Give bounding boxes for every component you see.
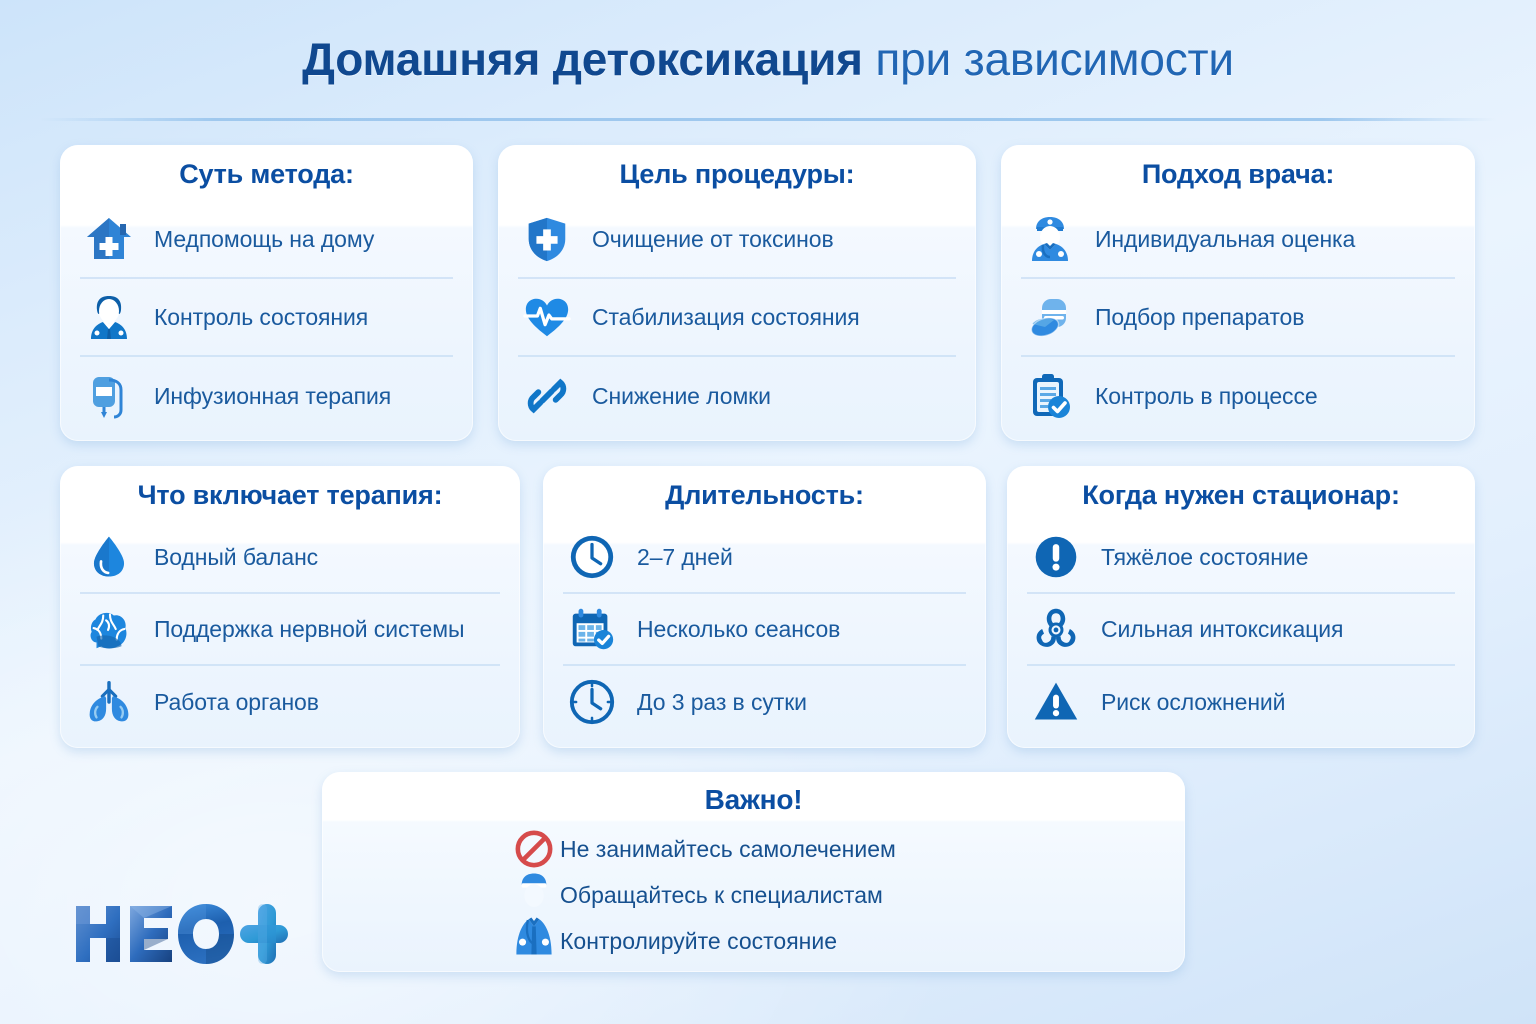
card-essence-of-method: Суть метода: Медпомощь на дому [60,145,473,441]
list-item: Не занимайтесь самолечением [322,826,1185,872]
warning-triangle-icon [1027,673,1085,731]
list-item: Риск осложнений [1027,666,1455,738]
card-body: Водный баланс [60,522,520,738]
card-body: Очищение от токсинов Стабилизация состоя… [498,201,976,435]
list-item: Работа органов [80,666,500,738]
list-item: Стабилизация состояния [518,279,956,357]
list-item-label: Инфузионная терапия [154,383,391,409]
list-item-label: Очищение от токсинов [592,226,834,252]
list-item: Водный баланс [80,522,500,594]
page-title-strong: Домашняя детоксикация [302,33,863,85]
list-item-label: 2–7 дней [637,544,733,570]
list-item: Тяжёлое состояние [1027,522,1455,594]
list-item: Несколько сеансов [563,594,966,666]
list-item-label: Тяжёлое состояние [1101,544,1308,570]
list-item-label: Водный баланс [154,544,318,570]
doctor-cap-icon [1021,210,1079,268]
iv-drip-icon [80,367,138,425]
card-doctor-approach: Подход врача: Индивиду [1001,145,1475,441]
clock-outline-icon [563,673,621,731]
list-item-label: Медпомощь на дому [154,226,374,252]
list-item: 2–7 дней [563,522,966,594]
card-heading: Что включает терапия: [60,466,520,522]
doctor-person-icon [80,288,138,346]
card-body: Не занимайтесь самолечением Обращайтесь … [322,822,1185,968]
list-item: Обращайтесь к специалистам [322,872,1185,918]
shield-cross-icon [518,210,576,268]
list-item-label: Поддержка нервной системы [154,616,464,642]
list-item-label: Не занимайтесь самолечением [560,836,896,863]
water-drop-icon [80,528,138,586]
doctor-figure-icon [508,870,560,962]
pills-icon [1021,288,1079,346]
list-item: Контроль в процессе [1021,357,1455,435]
card-procedure-goal: Цель процедуры: Очищение от токсинов [498,145,976,441]
card-heading: Подход врача: [1001,145,1475,201]
page-title-light: при зависимости [875,33,1233,85]
card-body: Тяжёлое состояние Сильная интоксикация [1007,522,1475,738]
card-important: Важно! [322,772,1185,972]
list-item-label: Снижение ломки [592,383,771,409]
list-item-label: Контролируйте состояние [560,928,837,955]
broken-chain-icon [518,367,576,425]
list-item: Очищение от токсинов [518,201,956,279]
list-item-label: Риск осложнений [1101,689,1285,715]
card-heading: Суть метода: [60,145,473,201]
title-divider [40,118,1496,121]
page-title: Домашняя детоксикация при зависимости [0,34,1536,85]
list-item: Сильная интоксикация [1027,594,1455,666]
calendar-check-icon [563,600,621,658]
list-item-label: Несколько сеансов [637,616,840,642]
prohibition-icon [508,826,560,872]
clock-filled-icon [563,528,621,586]
brain-icon [80,600,138,658]
list-item-label: Работа органов [154,689,319,715]
house-medical-icon [80,210,138,268]
neo-plus-logo [72,898,288,970]
heart-pulse-icon [518,288,576,346]
list-item-label: Стабилизация состояния [592,304,860,330]
biohazard-icon [1027,600,1085,658]
card-duration: Длительность: 2–7 дней [543,466,986,748]
list-item-label: До 3 раз в сутки [637,689,807,715]
clipboard-check-icon [1021,367,1079,425]
card-body: Индивидуальная оценка Подбор препаратов [1001,201,1475,435]
list-item: Подбор препаратов [1021,279,1455,357]
card-therapy-includes: Что включает терапия: Водный баланс [60,466,520,748]
list-item-label: Обращайтесь к специалистам [560,882,883,909]
list-item-label: Контроль состояния [154,304,368,330]
list-item: Снижение ломки [518,357,956,435]
lungs-icon [80,673,138,731]
list-item: Контролируйте состояние [322,918,1185,964]
list-item: Контроль состояния [80,279,453,357]
list-item: Индивидуальная оценка [1021,201,1455,279]
card-body: 2–7 дней [543,522,986,738]
card-heading: Когда нужен стационар: [1007,466,1475,522]
list-item: Поддержка нервной системы [80,594,500,666]
card-when-hospital-needed: Когда нужен стационар: Тяжёлое состояние [1007,466,1475,748]
card-body: Медпомощь на дому Контроль состояния [60,201,473,435]
card-heading: Важно! [322,772,1185,822]
list-item-label: Контроль в процессе [1095,383,1318,409]
exclamation-circle-icon [1027,528,1085,586]
list-item-label: Индивидуальная оценка [1095,226,1355,252]
list-item-label: Подбор препаратов [1095,304,1304,330]
list-item-label: Сильная интоксикация [1101,616,1343,642]
card-heading: Длительность: [543,466,986,522]
list-item: Инфузионная терапия [80,357,453,435]
card-heading: Цель процедуры: [498,145,976,201]
list-item: До 3 раз в сутки [563,666,966,738]
infographic-poster: Домашняя детоксикация при зависимости Су… [0,0,1536,1024]
list-item: Медпомощь на дому [80,201,453,279]
